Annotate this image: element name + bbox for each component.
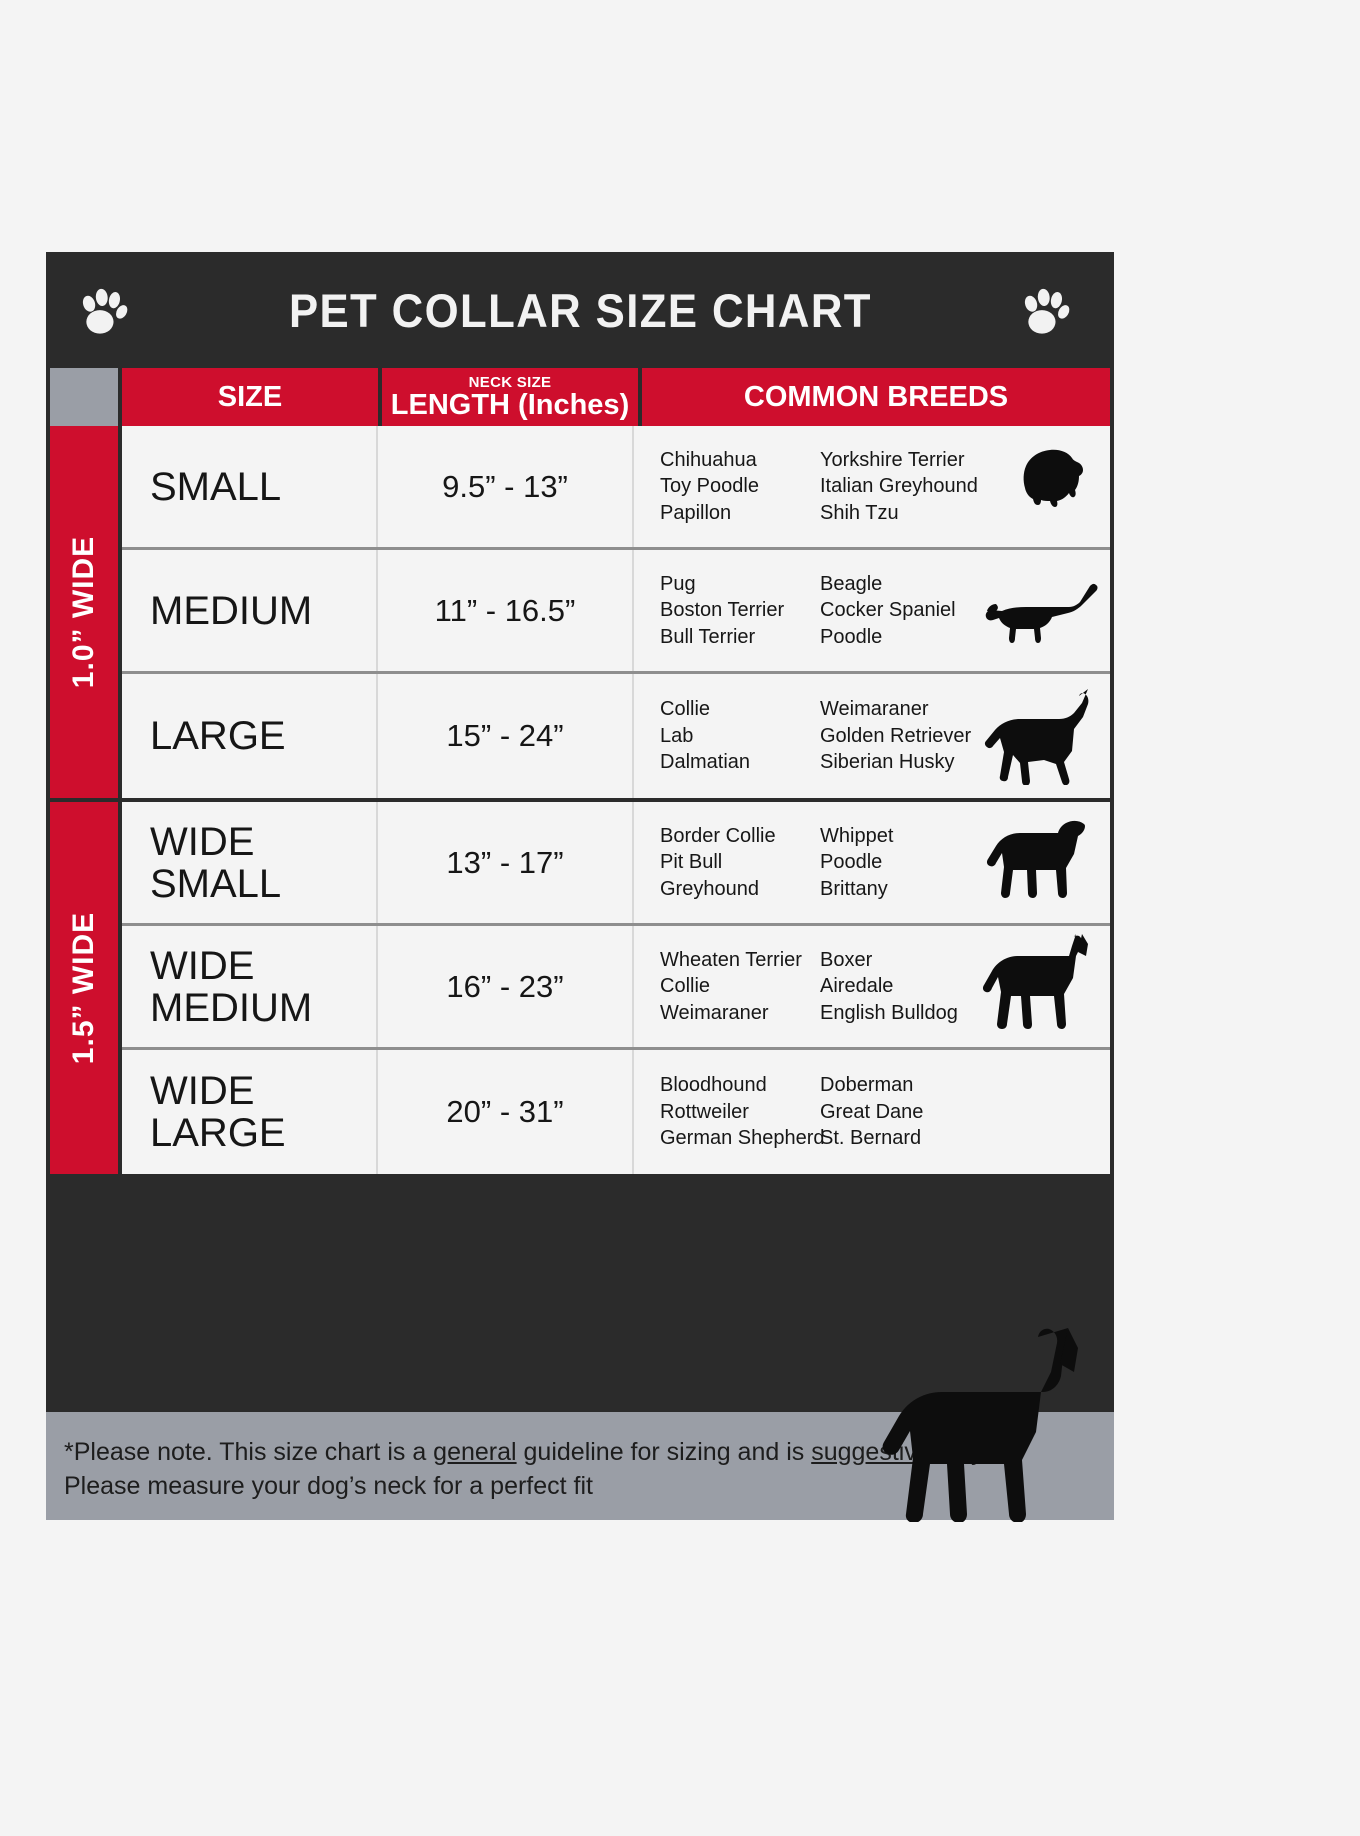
breed-item: Beagle — [820, 571, 995, 597]
row-size-label: MEDIUM — [150, 590, 312, 632]
column-header-size: SIZE — [122, 368, 378, 426]
size-chart-page: PET COLLAR SIZE CHART SIZE — [0, 0, 1360, 1836]
pomeranian-silhouette-icon — [1002, 444, 1094, 529]
breed-column-2: Yorkshire Terrier Italian Greyhound Shih… — [820, 447, 995, 526]
breed-item: Cocker Spaniel — [820, 597, 995, 623]
breed-column-1: Wheaten Terrier Collie Weimaraner — [660, 947, 820, 1026]
breed-item: Pit Bull — [660, 849, 820, 875]
breed-item: Italian Greyhound — [820, 473, 995, 499]
breed-item: Weimaraner — [820, 696, 995, 722]
breed-item: Siberian Husky — [820, 749, 995, 775]
size-table: SIZE NECK SIZE LENGTH (Inches) COMMON BR… — [46, 368, 1114, 1174]
table-row: SMALL 9.5” - 13” Chihuahua Toy Poodle Pa… — [122, 426, 1110, 550]
breed-column-1: Bloodhound Rottweiler German Shepherd — [660, 1072, 820, 1151]
footnote-underline-general: general — [433, 1438, 516, 1466]
table-row: LARGE 15” - 24” Collie Lab Dalmatian — [122, 674, 1110, 798]
row-breeds-wide-small: Border Collie Pit Bull Greyhound Whippet… — [634, 802, 1110, 923]
row-size-label-line1: WIDE — [150, 821, 281, 863]
breed-column-1: Collie Lab Dalmatian — [660, 696, 820, 775]
shepherd-silhouette-icon — [976, 681, 1104, 790]
bulldog-silhouette-icon — [980, 812, 1106, 915]
breed-column-1: Border Collie Pit Bull Greyhound — [660, 823, 820, 902]
breed-item: Border Collie — [660, 823, 820, 849]
row-length-label: 13” - 17” — [446, 845, 563, 881]
breed-item: Chihuahua — [660, 447, 820, 473]
chart-header: PET COLLAR SIZE CHART — [46, 252, 1114, 368]
row-size-medium: MEDIUM — [122, 550, 378, 671]
breed-item: St. Bernard — [820, 1125, 995, 1151]
row-size-label-line2: LARGE — [150, 1112, 286, 1154]
breed-item: Bull Terrier — [660, 624, 820, 650]
breed-item: Poodle — [820, 849, 995, 875]
row-length-label: 11” - 16.5” — [435, 593, 576, 629]
row-length-label: 16” - 23” — [446, 969, 563, 1005]
row-size-label-line1: WIDE — [150, 945, 312, 987]
breed-item: Golden Retriever — [820, 723, 995, 749]
breed-column-1: Pug Boston Terrier Bull Terrier — [660, 571, 820, 650]
row-length-wide-small: 13” - 17” — [378, 802, 634, 923]
breed-column-2: Boxer Airedale English Bulldog — [820, 947, 995, 1026]
footnote-text-b: guideline for sizing and is — [517, 1438, 812, 1466]
row-length-large: 15” - 24” — [378, 674, 634, 798]
row-breeds-wide-medium: Wheaten Terrier Collie Weimaraner Boxer … — [634, 926, 1110, 1047]
breed-item: Collie — [660, 696, 820, 722]
breed-item: Shih Tzu — [820, 500, 995, 526]
column-header-breeds-label: COMMON BREEDS — [744, 381, 1008, 414]
footnote-line-2: Please measure your dog’s neck for a per… — [64, 1470, 1090, 1504]
row-length-small: 9.5” - 13” — [378, 426, 634, 547]
row-length-medium: 11” - 16.5” — [378, 550, 634, 671]
footnote-line-1: *Please note. This size chart is a gener… — [64, 1436, 1090, 1470]
breed-item: Pug — [660, 571, 820, 597]
group-1-0-wide: 1.0” WIDE SMALL 9.5” - 13” Chihuahu — [46, 426, 1114, 798]
pet-collar-size-chart: PET COLLAR SIZE CHART SIZE — [46, 252, 1114, 1520]
column-header-size-label: SIZE — [218, 381, 282, 414]
breed-item: Airedale — [820, 973, 995, 999]
footnote-text-c: only. — [931, 1438, 989, 1466]
breed-column-2: Weimaraner Golden Retriever Siberian Hus… — [820, 696, 995, 775]
column-header-neck-size-label: NECK SIZE — [391, 375, 629, 390]
footnote-underline-suggestive: suggestive — [811, 1438, 931, 1466]
breed-item: Brittany — [820, 876, 995, 902]
breed-item: Whippet — [820, 823, 995, 849]
row-size-label-line1: WIDE — [150, 1070, 286, 1112]
breed-item: Lab — [660, 723, 820, 749]
row-length-label: 15” - 24” — [446, 718, 563, 754]
row-length-label: 9.5” - 13” — [442, 469, 568, 505]
header-corner-cell — [50, 368, 118, 426]
column-header-breeds: COMMON BREEDS — [642, 368, 1110, 426]
group-label-1-0-wide-text: 1.0” WIDE — [67, 536, 101, 688]
footnote: *Please note. This size chart is a gener… — [46, 1412, 1114, 1520]
column-header-length: NECK SIZE LENGTH (Inches) — [382, 368, 638, 426]
breed-item: Papillon — [660, 500, 820, 526]
row-size-label-line2: SMALL — [150, 863, 281, 905]
group-label-1-5-wide-text: 1.5” WIDE — [67, 912, 101, 1064]
breed-item: German Shepherd — [660, 1125, 820, 1151]
breed-item: Toy Poodle — [660, 473, 820, 499]
row-size-label: LARGE — [150, 715, 286, 757]
group-label-1-5-wide: 1.5” WIDE — [50, 802, 118, 1174]
breed-item: Doberman — [820, 1072, 995, 1098]
row-length-wide-medium: 16” - 23” — [378, 926, 634, 1047]
table-header-row: SIZE NECK SIZE LENGTH (Inches) COMMON BR… — [46, 368, 1114, 426]
row-length-wide-large: 20” - 31” — [378, 1050, 634, 1174]
breed-item: Wheaten Terrier — [660, 947, 820, 973]
breed-item: Weimaraner — [660, 1000, 820, 1026]
page-title: PET COLLAR SIZE CHART — [289, 283, 872, 338]
row-size-label-line2: MEDIUM — [150, 987, 312, 1029]
group-label-1-0-wide: 1.0” WIDE — [50, 426, 118, 798]
row-size-label: SMALL — [150, 466, 281, 508]
row-breeds-large: Collie Lab Dalmatian Weimaraner Golden R… — [634, 674, 1110, 798]
table-row: WIDE MEDIUM 16” - 23” Wheaten Terrier Co… — [122, 926, 1110, 1050]
breed-item: Bloodhound — [660, 1072, 820, 1098]
row-breeds-wide-large: Bloodhound Rottweiler German Shepherd Do… — [634, 1050, 1110, 1174]
beagle-silhouette-icon — [982, 574, 1102, 651]
table-row: WIDE SMALL 13” - 17” Border Collie Pit B… — [122, 802, 1110, 926]
breed-column-2: Beagle Cocker Spaniel Poodle — [820, 571, 995, 650]
breed-item: Boxer — [820, 947, 995, 973]
breed-column-1: Chihuahua Toy Poodle Papillon — [660, 447, 820, 526]
boxer-silhouette-icon — [978, 928, 1108, 1043]
row-size-wide-small: WIDE SMALL — [122, 802, 378, 923]
breed-column-2: Whippet Poodle Brittany — [820, 823, 995, 902]
breed-item: Great Dane — [820, 1099, 995, 1125]
column-header-length-label: LENGTH (Inches) — [391, 391, 629, 420]
row-size-wide-large: WIDE LARGE — [122, 1050, 378, 1174]
row-length-label: 20” - 31” — [446, 1094, 563, 1130]
paw-print-icon — [1022, 282, 1080, 340]
footnote-text-a: *Please note. This size chart is a — [64, 1438, 433, 1466]
row-breeds-small: Chihuahua Toy Poodle Papillon Yorkshire … — [634, 426, 1110, 547]
breed-item: Poodle — [820, 624, 995, 650]
breed-item: English Bulldog — [820, 1000, 995, 1026]
row-breeds-medium: Pug Boston Terrier Bull Terrier Beagle C… — [634, 550, 1110, 671]
breed-item: Yorkshire Terrier — [820, 447, 995, 473]
breed-item: Greyhound — [660, 876, 820, 902]
row-size-small: SMALL — [122, 426, 378, 547]
breed-item: Collie — [660, 973, 820, 999]
breed-item: Boston Terrier — [660, 597, 820, 623]
breed-item: Rottweiler — [660, 1099, 820, 1125]
breed-item: Dalmatian — [660, 749, 820, 775]
paw-print-icon — [80, 282, 138, 340]
group-1-5-wide: 1.5” WIDE WIDE SMALL 13” - 17” — [46, 802, 1114, 1174]
row-size-large: LARGE — [122, 674, 378, 798]
breed-column-2: Doberman Great Dane St. Bernard — [820, 1072, 995, 1151]
table-row: MEDIUM 11” - 16.5” Pug Boston Terrier Bu… — [122, 550, 1110, 674]
table-row: WIDE LARGE 20” - 31” Bloodhound Rottweil… — [122, 1050, 1110, 1174]
row-size-wide-medium: WIDE MEDIUM — [122, 926, 378, 1047]
